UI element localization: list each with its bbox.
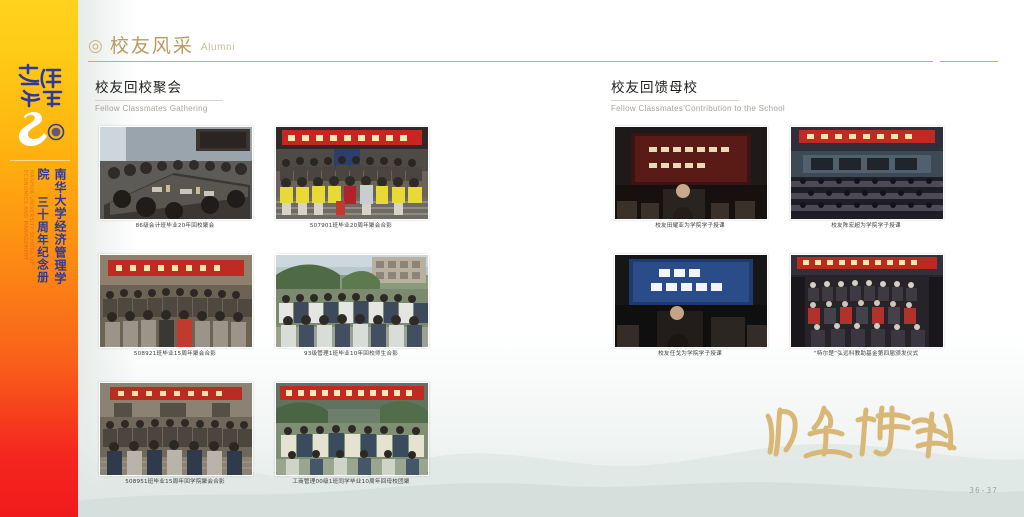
section-rule	[611, 100, 739, 101]
photo-cell[interactable]: 508951班毕业15周年回学院聚会合影	[99, 382, 251, 474]
photo-grid-right: 校友田耀亚为学院学子授课	[614, 126, 944, 366]
photo-caption: 工商管理00级1班同学毕业10周年回母校团聚	[253, 478, 449, 487]
photo-cell[interactable]: “特尔楚”弘远科教助基金第四届颁发仪式	[790, 254, 942, 346]
page-title-en: Alumni	[201, 41, 235, 56]
page-folio: 36-37	[969, 486, 998, 495]
page-title: 校友风采	[110, 36, 194, 56]
photo-caption: “特尔楚”弘远科教助基金第四届颁发仪式	[768, 350, 964, 359]
photo-cell[interactable]: 校友陈宏超为学院学子授课	[790, 126, 942, 218]
section-rule	[95, 100, 223, 101]
spine-vertical-subtitle: NANHUA UNIVERSITY SCHOOL OF ECONOMICS AN…	[22, 170, 34, 286]
section-title-en: Fellow Classmates'Contribution to the Sc…	[611, 103, 951, 114]
photo-group-indoor-red-banner[interactable]	[99, 254, 253, 348]
photo-group-yellow-shirts-banner[interactable]	[275, 126, 429, 220]
photo-caption: 86级会计班毕业20年回校聚会	[77, 222, 273, 231]
section-contribution: 校友回馈母校 Fellow Classmates'Contribution to…	[611, 80, 951, 114]
photo-auditorium-red-banner[interactable]	[790, 126, 944, 220]
photo-caption: 508951班毕业15周年回学院聚会合影	[77, 478, 273, 487]
photo-cell[interactable]: 校友田耀亚为学院学子授课	[614, 126, 766, 218]
photo-ceremony-group-photo[interactable]	[790, 254, 944, 348]
left-spine-band: NANHUA UNIVERSITY SCHOOL OF ECONOMICS AN…	[0, 0, 78, 517]
photo-caption: 校友陈宏超为学院学子授课	[768, 222, 964, 231]
school-logo	[14, 58, 66, 154]
photo-group-outdoor-campus[interactable]	[275, 254, 429, 348]
photo-caption: 507901班毕业20周年聚会合影	[253, 222, 449, 231]
section-title-gathering: 校友回校聚会 Fellow Classmates Gathering	[95, 80, 435, 114]
header-rule-right	[940, 61, 998, 62]
section-gathering: 校友回校聚会 Fellow Classmates Gathering	[95, 80, 435, 114]
page-header: ◎ 校友风采 Alumni	[88, 36, 998, 62]
photo-cell[interactable]: 校友任戈为学院学子授课	[614, 254, 766, 346]
section-title-contribution: 校友回馈母校 Fellow Classmates'Contribution to…	[611, 80, 951, 114]
photo-caption: 93级管理1班毕业10年回校师生合影	[253, 350, 449, 359]
photo-cell[interactable]: 508921班毕业15周年聚会合影	[99, 254, 251, 346]
header-rule	[88, 61, 933, 62]
section-title-cn: 校友回校聚会	[95, 80, 435, 97]
photo-lecture-blue-screen[interactable]	[614, 254, 768, 348]
photo-group-outdoor-banner[interactable]	[275, 382, 429, 476]
circle-mark-icon: ◎	[88, 37, 103, 55]
section-title-en: Fellow Classmates Gathering	[95, 103, 435, 114]
photo-caption: 校友任戈为学院学子授课	[592, 350, 788, 359]
photo-caption: 508921班毕业15周年聚会合影	[77, 350, 273, 359]
photo-lecture-stage-screen[interactable]	[614, 126, 768, 220]
spine-vertical-title-line2: 三十周年纪念册	[36, 196, 50, 284]
photo-cell[interactable]: 507901班毕业20周年聚会合影	[275, 126, 427, 218]
section-title-cn: 校友回馈母校	[611, 80, 951, 97]
photo-caption: 校友田耀亚为学院学子授课	[592, 222, 788, 231]
photo-cell[interactable]: 工商管理00级1班同学毕业10周年回母校团聚	[275, 382, 427, 474]
photo-cell[interactable]: 86级会计班毕业20年回校聚会	[99, 126, 251, 218]
spine-vertical-title: 南华大学经济管理学院 三十周年纪念册	[34, 168, 68, 286]
calligraphy-shisheng-qingshen	[762, 394, 962, 464]
photo-cell[interactable]: 93级管理1班毕业10年回校师生合影	[275, 254, 427, 346]
photo-group-steps-building[interactable]	[99, 382, 253, 476]
photo-grid-left: 86级会计班毕业20年回校聚会	[99, 126, 429, 496]
spine-divider	[10, 160, 70, 161]
brochure-page: NANHUA UNIVERSITY SCHOOL OF ECONOMICS AN…	[0, 0, 1024, 517]
photo-banquet-hall-meeting[interactable]	[99, 126, 253, 220]
